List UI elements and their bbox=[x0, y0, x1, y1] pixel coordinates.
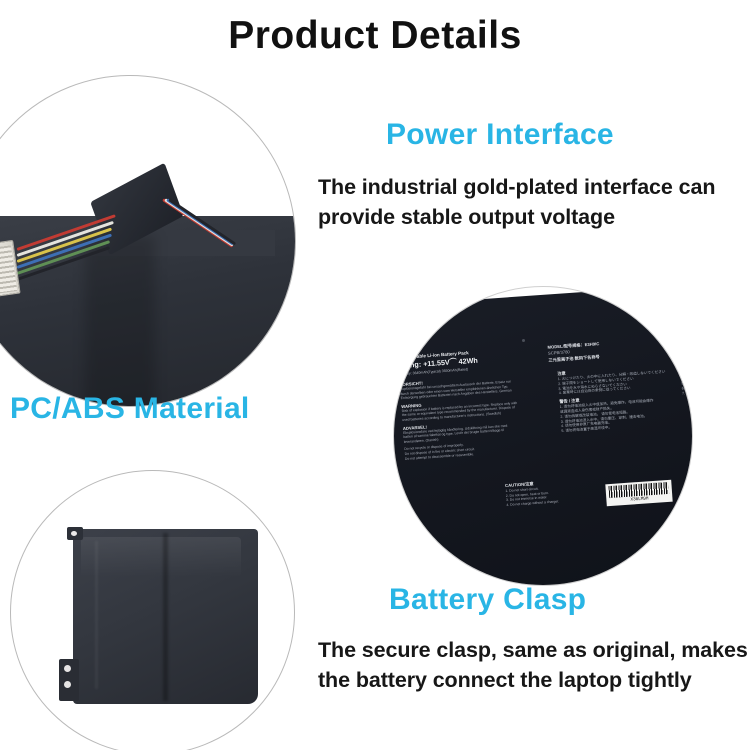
clasp-screw-hole bbox=[71, 531, 77, 536]
page-title: Product Details bbox=[0, 14, 750, 58]
casing-clasp-bottom bbox=[59, 659, 79, 701]
far-line: 7. 运输 bbox=[682, 390, 693, 396]
casing-clasp-top bbox=[67, 527, 83, 540]
label-printed-text: Rechargeable Li-ion Battery Pack Rating:… bbox=[396, 335, 693, 545]
casing-crease-secondary bbox=[95, 541, 98, 689]
product-details-page: Product Details Power Interface The indu… bbox=[0, 0, 750, 750]
feature-heading-power-interface: Power Interface bbox=[386, 118, 614, 152]
casing-highlight bbox=[81, 537, 241, 577]
battery-casing-photo bbox=[10, 470, 295, 750]
label-barcode: X36LM9H bbox=[605, 480, 672, 507]
connector-pins bbox=[0, 245, 17, 294]
battery-label-photo: Rechargeable Li-ion Battery Pack Rating:… bbox=[393, 286, 693, 586]
feature-heading-battery-clasp: Battery Clasp bbox=[389, 583, 586, 617]
feature-body-battery-clasp: The secure clasp, same as original, make… bbox=[318, 635, 750, 695]
label-cjk-column: 注意 1. 火につけたり、火の中に入れたり、分解・改造しないでください 2. 端… bbox=[557, 359, 689, 434]
label-caution-column: CAUTION/注意 1. Do not short-circuit. 2. D… bbox=[505, 475, 577, 507]
battery-shadow bbox=[85, 236, 155, 407]
clasp-screw-hole bbox=[64, 681, 71, 688]
label-warning-column-left: VORSICHT! Explosionsgefahr bei unsachgem… bbox=[399, 369, 554, 461]
label-far-right-column: 注意 1. 电池 2. 电池器 3. 充电器 4. 使用 5. 回收 6. 存放… bbox=[680, 356, 693, 396]
battery-connector-photo bbox=[0, 75, 296, 407]
casing-crease-main bbox=[163, 533, 168, 701]
label-speck bbox=[522, 339, 525, 342]
feature-body-power-interface: The industrial gold-plated interface can… bbox=[318, 172, 748, 232]
feature-heading-pc-abs-material: PC/ABS Material bbox=[10, 392, 250, 426]
clasp-screw-hole bbox=[64, 665, 71, 672]
